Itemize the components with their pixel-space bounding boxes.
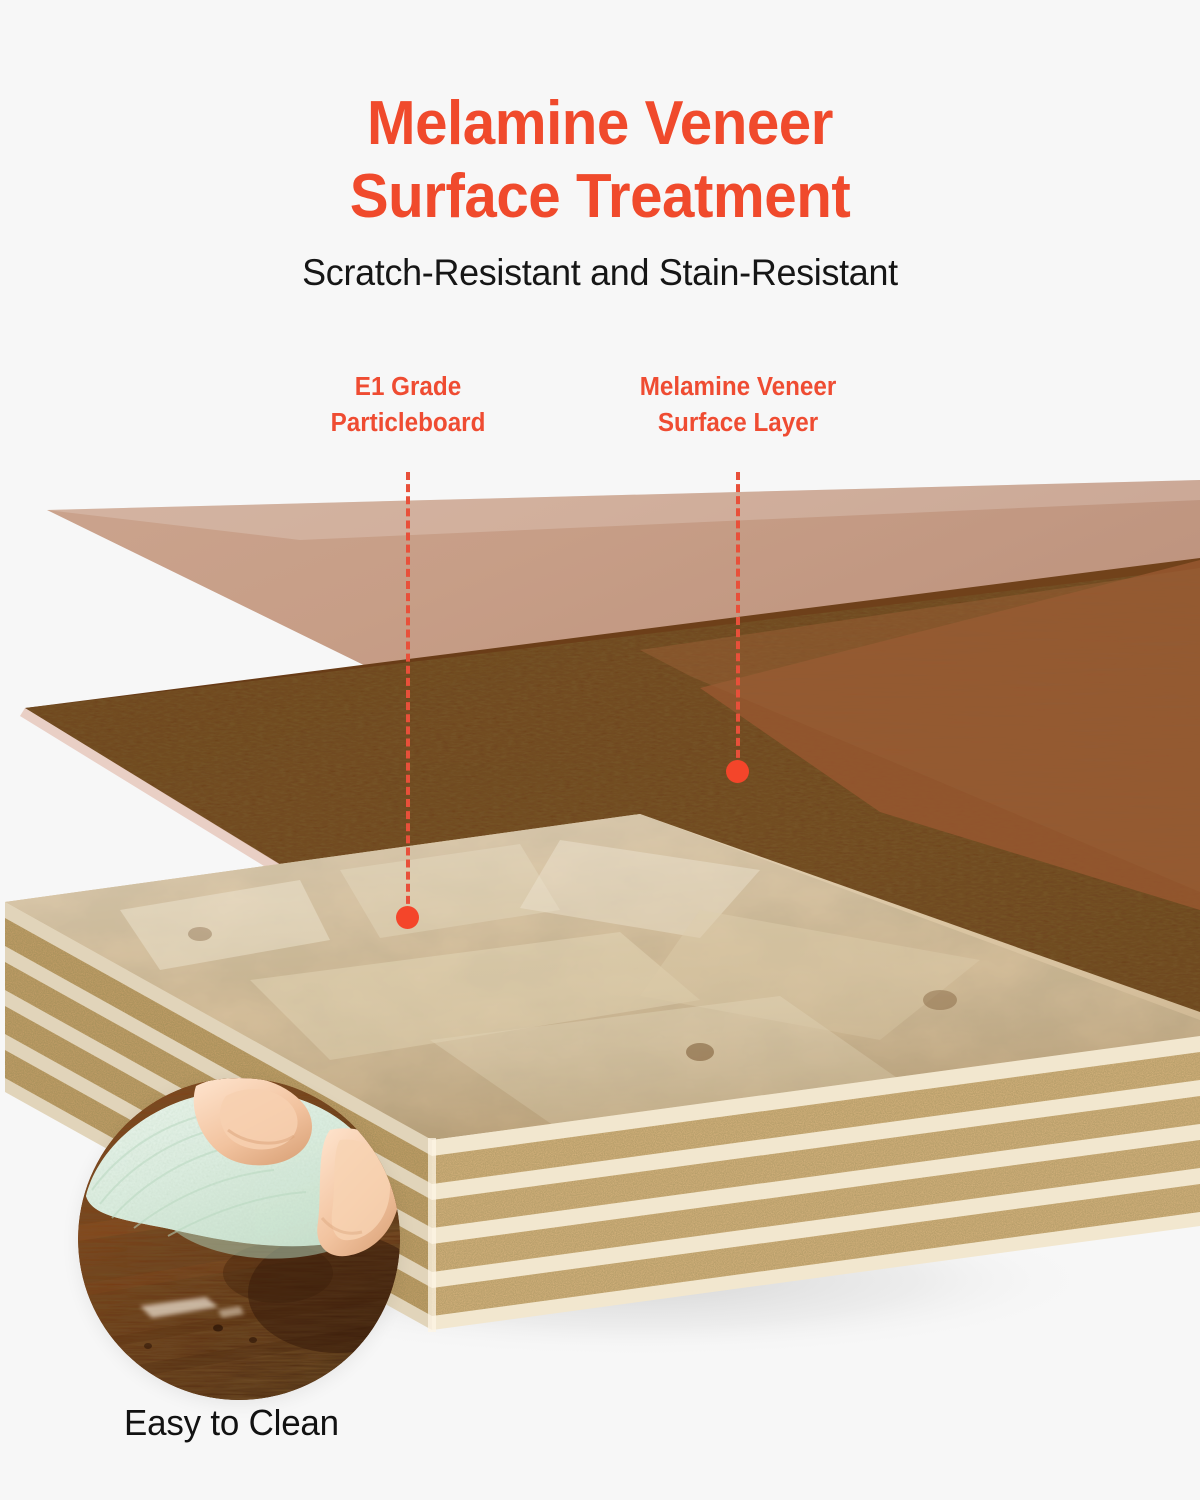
leader-line-veneer	[736, 472, 740, 770]
callout-label-particleboard: E1 Grade Particleboard	[266, 369, 551, 441]
callout-label-veneer: Melamine Veneer Surface Layer	[586, 369, 890, 441]
leader-line-particleboard	[406, 472, 410, 916]
leader-dot-veneer	[726, 760, 749, 783]
easy-to-clean-caption: Easy to Clean	[124, 1402, 339, 1444]
infographic-page: Melamine Veneer Surface Treatment Scratc…	[0, 0, 1200, 1500]
leader-dot-particleboard	[396, 906, 419, 929]
page-subtitle: Scratch-Resistant and Stain-Resistant	[18, 252, 1182, 294]
page-title: Melamine Veneer Surface Treatment	[36, 88, 1164, 233]
easy-to-clean-photo	[78, 1078, 400, 1400]
